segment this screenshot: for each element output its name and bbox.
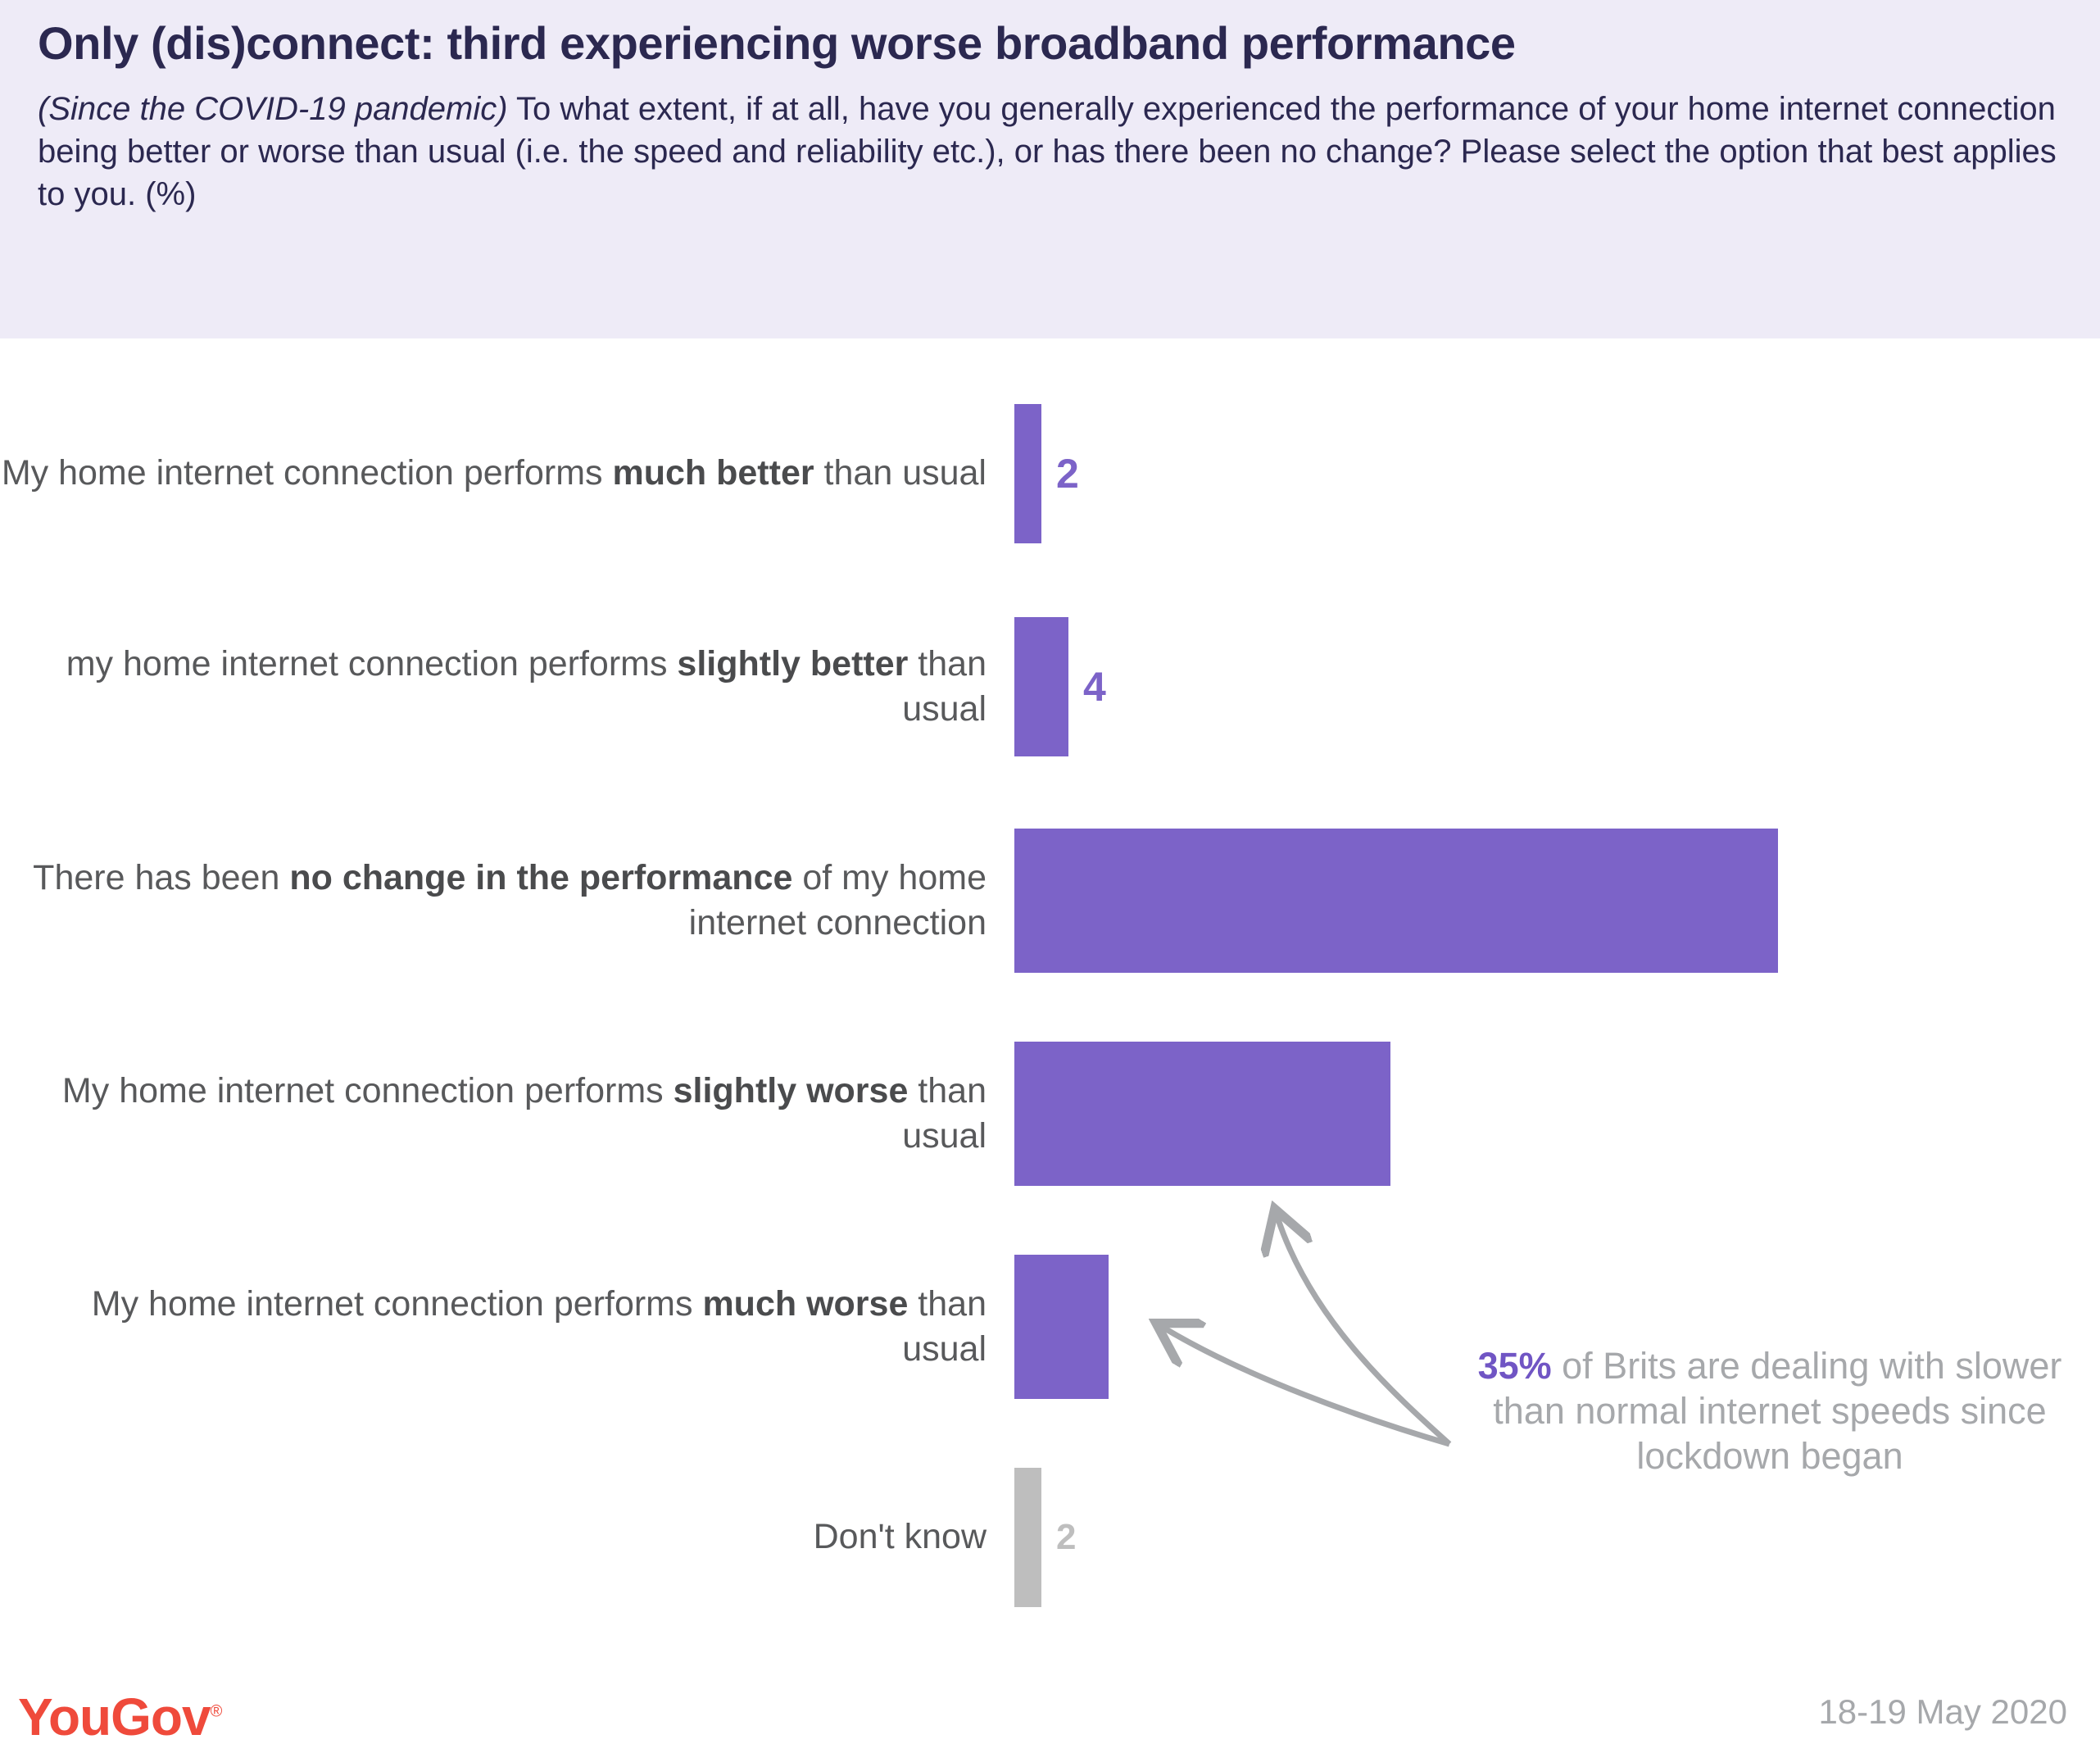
bar-label-text-tail: than usual — [902, 1284, 987, 1369]
bar-label: My home internet connection performs muc… — [0, 451, 1014, 496]
registered-trademark-icon: ® — [211, 1703, 222, 1721]
bar-value-label: 2 — [1056, 1517, 1076, 1558]
bar-value-label: 7 — [2066, 1303, 2089, 1351]
bar-label-text-lead: My home internet connection performs — [2, 453, 613, 493]
bar-row-slightly-worse: My home internet connection performs sli… — [0, 1042, 2100, 1186]
bar-label-text-emphasis: no change in the performance — [289, 858, 792, 897]
annotation-text: of Brits are dealing with slower than no… — [1493, 1345, 2061, 1477]
page-title: Only (dis)connect: third experiencing wo… — [38, 18, 2062, 70]
bar-rect[interactable] — [1014, 404, 1041, 543]
bar-label: My home internet connection performs muc… — [0, 1282, 1014, 1372]
bar-label: my home internet connection performs sli… — [0, 642, 1014, 732]
bar-label-text-lead: my home internet connection performs — [66, 644, 678, 683]
bar-label-text-lead: Don't know — [814, 1517, 987, 1556]
bar-label-text-tail: than usual — [902, 644, 987, 729]
chart-question-text: (Since the COVID-19 pandemic) To what ex… — [38, 88, 2062, 216]
bar-label-text-emphasis: much better — [613, 453, 814, 493]
bar-label-text-lead: My home internet connection performs — [62, 1071, 674, 1110]
fieldwork-date: 18-19 May 2020 — [1818, 1692, 2067, 1732]
bar-rect[interactable]: 57 — [1014, 829, 1778, 973]
bar-label-text-lead: There has been — [33, 858, 289, 897]
bar-value-label: 57 — [2036, 877, 2082, 924]
bar-label-text-emphasis: slightly worse — [674, 1071, 909, 1110]
bar-label-text-tail: than usual — [902, 1071, 987, 1156]
bar-label: Don't know — [0, 1515, 1014, 1560]
bar-label: There has been no change in the performa… — [0, 856, 1014, 946]
bar-track: 28 — [1014, 1042, 2100, 1186]
bar-rect[interactable] — [1014, 1468, 1041, 1607]
bar-value-label: 28 — [2036, 1090, 2082, 1138]
question-period-note: (Since the COVID-19 pandemic) — [38, 91, 508, 127]
bar-rect[interactable]: 7 — [1014, 1255, 1109, 1399]
bar-row-dont-know: Don't know 2 — [0, 1468, 2100, 1607]
bar-value-label: 2 — [1056, 450, 1079, 497]
bar-value-label: 4 — [1083, 663, 1106, 711]
bar-track: 57 — [1014, 829, 2100, 973]
bar-rect[interactable] — [1014, 617, 1068, 756]
header-band: Only (dis)connect: third experiencing wo… — [0, 0, 2100, 338]
bar-label-text-lead: My home internet connection performs — [92, 1284, 703, 1324]
yougov-wordmark: YouGov — [18, 1687, 211, 1746]
bar-row-slightly-better: my home internet connection performs sli… — [0, 617, 2100, 756]
bar-row-much-better: My home internet connection performs muc… — [0, 404, 2100, 543]
bar-label-text-emphasis: much worse — [702, 1284, 908, 1324]
bar-track: 4 — [1014, 617, 2100, 756]
bar-track: 2 — [1014, 1468, 2100, 1607]
footer: YouGov® 18-19 May 2020 — [0, 1642, 2100, 1762]
yougov-logo: YouGov® — [18, 1687, 221, 1747]
bar-label-text-tail: than usual — [814, 453, 987, 493]
bar-label: My home internet connection performs sli… — [0, 1069, 1014, 1159]
annotation-callout: 35% of Brits are dealing with slower tha… — [1475, 1344, 2065, 1479]
bar-label-text-emphasis: slightly better — [677, 644, 908, 683]
bar-track: 2 — [1014, 404, 2100, 543]
bar-rect[interactable]: 28 — [1014, 1042, 1390, 1186]
annotation-percentage: 35% — [1478, 1345, 1552, 1387]
bar-row-no-change: There has been no change in the performa… — [0, 829, 2100, 973]
